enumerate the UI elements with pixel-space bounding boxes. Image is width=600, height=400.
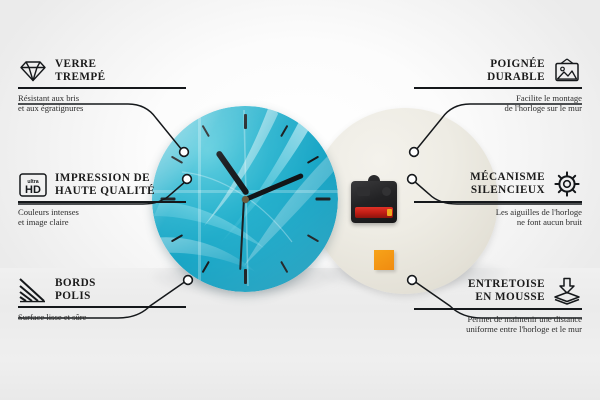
feature-poignee-durable: POIGNÉE DURABLE Facilite le montage de l… [414, 58, 582, 114]
feature-impression-haute-qualite: ultra HD IMPRESSION DE HAUTE QUALITÉ Cou… [18, 172, 186, 228]
feature-description: Facilite le montage de l'horloge sur le … [414, 93, 582, 114]
feature-description: Les aiguilles de l'horloge ne font aucun… [414, 207, 582, 228]
feature-title: VERRE TREMPÉ [55, 58, 106, 84]
feature-title: POIGNÉE DURABLE [487, 58, 545, 84]
ultra-hd-icon: ultra HD [18, 172, 48, 198]
feature-header: POIGNÉE DURABLE [414, 58, 582, 84]
polished-edges-icon [18, 277, 48, 303]
feature-title: BORDS POLIS [55, 277, 96, 303]
feature-header: ultra HD IMPRESSION DE HAUTE QUALITÉ [18, 172, 186, 198]
feature-header: MÉCANISME SILENCIEUX [414, 170, 582, 198]
feature-title: IMPRESSION DE HAUTE QUALITÉ [55, 172, 155, 198]
connector-dot-verre [180, 148, 189, 157]
feature-entretoise-en-mousse: ENTRETOISE EN MOUSSE Permet de maintenir… [414, 277, 582, 335]
feature-description: Couleurs intenses et image claire [18, 207, 186, 228]
divider [18, 306, 186, 308]
connector-dot-poignee [410, 148, 419, 157]
foam-spacer-icon [552, 277, 582, 305]
divider [414, 201, 582, 203]
infographic-canvas: VERRE TREMPÉ Résistant aux bris et aux é… [0, 0, 600, 400]
divider [414, 308, 582, 310]
gear-icon [552, 170, 582, 198]
ultra-hd-icon-bottom-label: HD [25, 184, 41, 196]
feature-description: Surface lisse et sûre [18, 312, 186, 323]
divider [18, 201, 186, 203]
wall-hanger-icon [552, 58, 582, 84]
feature-verre-trempe: VERRE TREMPÉ Résistant aux bris et aux é… [18, 58, 186, 114]
feature-title: ENTRETOISE EN MOUSSE [468, 278, 545, 304]
divider [414, 87, 582, 89]
feature-header: VERRE TREMPÉ [18, 58, 186, 84]
feature-description: Permet de maintenir une distance uniform… [414, 314, 582, 335]
divider [18, 87, 186, 89]
feature-description: Résistant aux bris et aux égratignures [18, 93, 186, 114]
feature-bords-polis: BORDS POLIS Surface lisse et sûre [18, 277, 186, 322]
feature-header: ENTRETOISE EN MOUSSE [414, 277, 582, 305]
feature-title: MÉCANISME SILENCIEUX [470, 171, 545, 197]
feature-mecanisme-silencieux: MÉCANISME SILENCIEUX Les aiguilles de l'… [414, 170, 582, 228]
diamond-icon [18, 59, 48, 83]
feature-header: BORDS POLIS [18, 277, 186, 303]
